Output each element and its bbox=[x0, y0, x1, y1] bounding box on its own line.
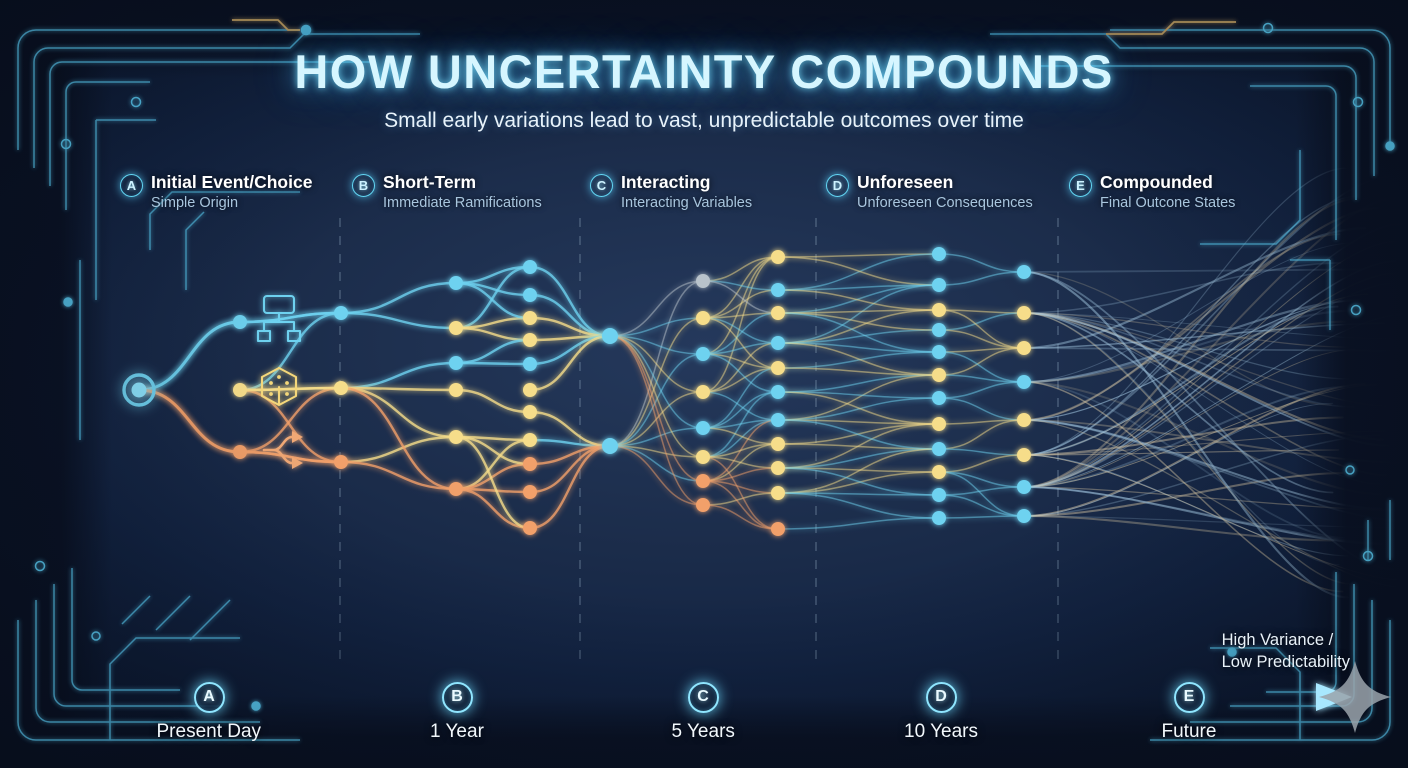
stage-badge-c: C bbox=[590, 174, 613, 197]
stage-subtitle: Simple Origin bbox=[151, 195, 312, 211]
stage-label-a: AInitial Event/ChoiceSimple Origin bbox=[120, 172, 312, 211]
timeline-marker-b[interactable]: B bbox=[442, 682, 473, 713]
stage-title: Unforeseen bbox=[857, 172, 1033, 193]
stage-text-group: InteractingInteracting Variables bbox=[621, 172, 752, 211]
stage-text-group: UnforeseenUnforeseen Consequences bbox=[857, 172, 1033, 211]
stage-subtitle: Final Outcone States bbox=[1100, 195, 1235, 211]
stage-title: Interacting bbox=[621, 172, 752, 193]
infographic-canvas: HOW UNCERTAINTY COMPOUNDS Small early va… bbox=[0, 0, 1408, 768]
variance-line-1: High Variance / bbox=[1222, 630, 1350, 652]
stage-title: Initial Event/Choice bbox=[151, 172, 312, 193]
stage-caption-row: AInitial Event/ChoiceSimple OriginBShort… bbox=[0, 172, 1408, 228]
stage-subtitle: Interacting Variables bbox=[621, 195, 752, 211]
stage-label-b: BShort-TermImmediate Ramifications bbox=[352, 172, 542, 211]
variance-line-2: Low Predictability bbox=[1222, 652, 1350, 674]
page-title: HOW UNCERTAINTY COMPOUNDS bbox=[0, 44, 1408, 99]
stage-badge-e: E bbox=[1069, 174, 1092, 197]
timeline-label-c: 5 Years bbox=[672, 721, 735, 743]
timeline-label-d: 10 Years bbox=[904, 721, 978, 743]
variance-annotation: High Variance / Low Predictability bbox=[1222, 630, 1350, 674]
stage-text-group: Short-TermImmediate Ramifications bbox=[383, 172, 542, 211]
timeline-marker-d[interactable]: D bbox=[926, 682, 957, 713]
stage-subtitle: Unforeseen Consequences bbox=[857, 195, 1033, 211]
stage-subtitle: Immediate Ramifications bbox=[383, 195, 542, 211]
stage-text-group: CompoundedFinal Outcone States bbox=[1100, 172, 1235, 211]
timeline-label-e: Future bbox=[1162, 721, 1217, 743]
stage-badge-d: D bbox=[826, 174, 849, 197]
stage-text-group: Initial Event/ChoiceSimple Origin bbox=[151, 172, 312, 211]
timeline-marker-e[interactable]: E bbox=[1174, 682, 1205, 713]
timeline-label-b: 1 Year bbox=[430, 721, 484, 743]
stage-label-e: ECompoundedFinal Outcone States bbox=[1069, 172, 1235, 211]
timeline-marker-a[interactable]: A bbox=[194, 682, 225, 713]
page-subtitle: Small early variations lead to vast, unp… bbox=[0, 109, 1408, 133]
timeline-label-a: Present Day bbox=[157, 721, 262, 743]
stage-title: Compounded bbox=[1100, 172, 1235, 193]
stage-label-d: DUnforeseenUnforeseen Consequences bbox=[826, 172, 1033, 211]
timeline-marker-c[interactable]: C bbox=[688, 682, 719, 713]
stage-badge-b: B bbox=[352, 174, 375, 197]
header: HOW UNCERTAINTY COMPOUNDS Small early va… bbox=[0, 44, 1408, 133]
stage-badge-a: A bbox=[120, 174, 143, 197]
stage-title: Short-Term bbox=[383, 172, 542, 193]
stage-label-c: CInteractingInteracting Variables bbox=[590, 172, 752, 211]
